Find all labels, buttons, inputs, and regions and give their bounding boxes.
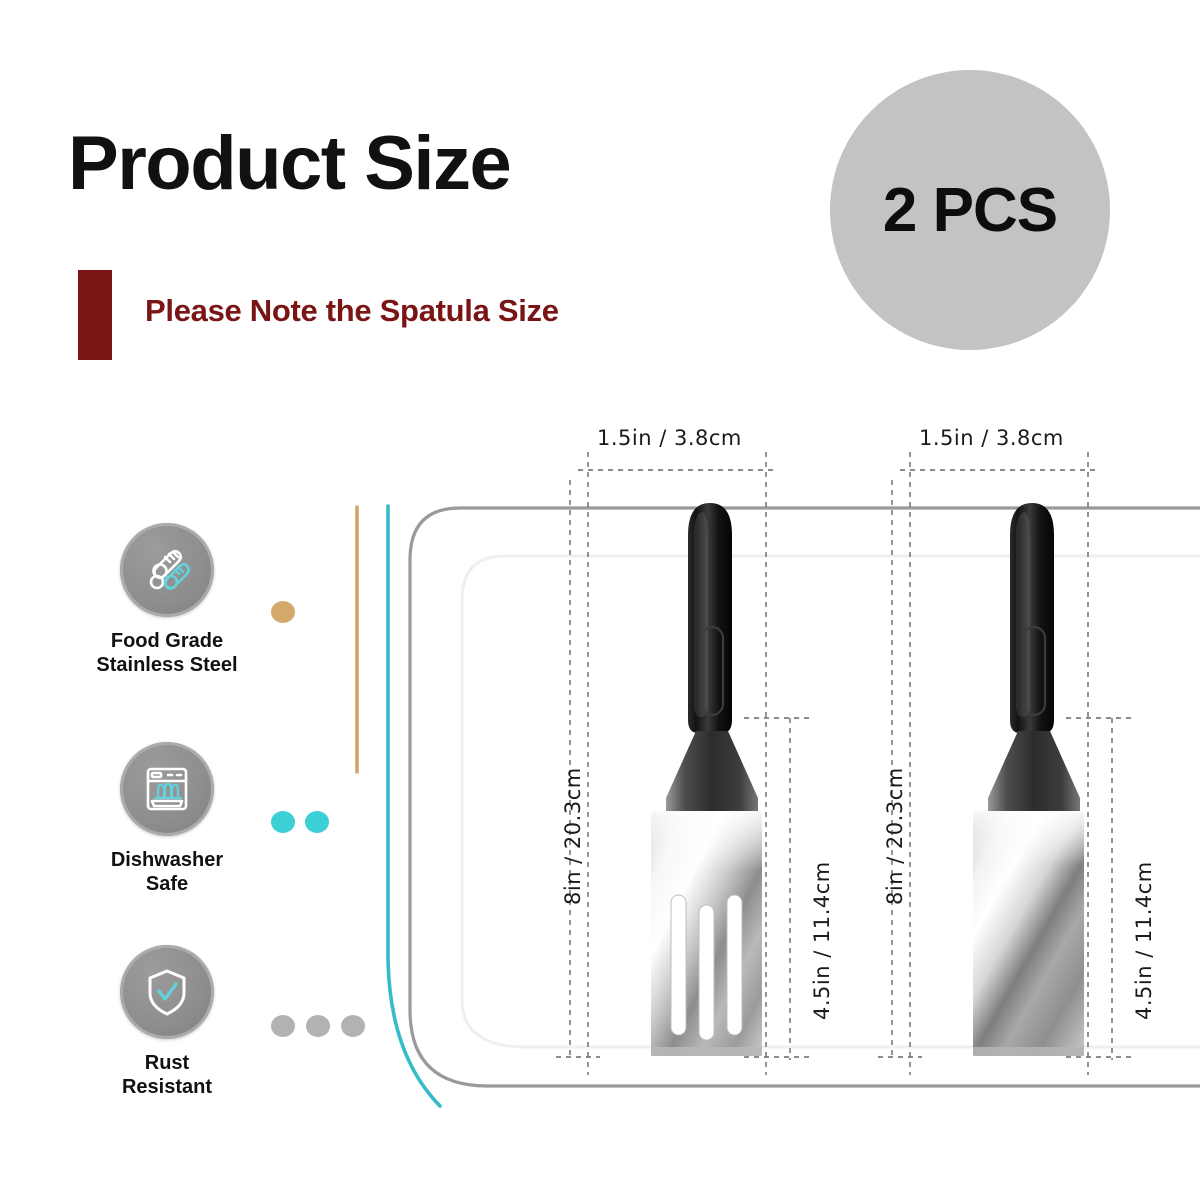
spatula-neck (666, 731, 758, 813)
dim-label-width-2: 1.5in / 3.8cm (919, 426, 1064, 450)
feature-label: Food Grade Stainless Steel (52, 629, 282, 678)
slotted-spatula (630, 495, 810, 1065)
blade-slot (727, 895, 742, 1035)
blade-edge (651, 1047, 762, 1056)
decor-dot (305, 811, 329, 833)
accent-bar (78, 270, 112, 360)
decor-dot (271, 811, 295, 833)
cyan-accent-line (388, 506, 440, 1106)
dim-label-blade-2: 4.5in / 11.4cm (1132, 861, 1156, 1020)
steel-tubes-glyph (137, 540, 197, 600)
quantity-badge: 2 PCS (830, 70, 1110, 350)
dim-label-width-1: 1.5in / 3.8cm (597, 426, 742, 450)
feature-label: Rust Resistant (52, 1051, 282, 1100)
decor-dot (306, 1015, 330, 1037)
feature-rust-resistant: Rust Resistant (52, 945, 282, 1100)
page-title: Product Size (68, 126, 510, 202)
blade-slot (699, 905, 714, 1040)
decor-dot (271, 1015, 295, 1037)
decor-dot (341, 1015, 365, 1037)
blade-slot (671, 895, 686, 1035)
dishwasher-glyph (137, 759, 197, 819)
spatula-neck (988, 731, 1080, 813)
steel-tubes-icon (120, 523, 214, 617)
dim-label-blade-1: 4.5in / 11.4cm (810, 861, 834, 1020)
feature-dishwasher-safe: Dishwasher Safe (52, 742, 282, 897)
shield-check-icon (120, 945, 214, 1039)
dim-label-total-2: 8in / 20.3cm (883, 767, 907, 905)
blade-edge (973, 1047, 1084, 1056)
blade-gloss (651, 811, 762, 871)
blade-gloss (973, 811, 1084, 866)
dim-label-total-1: 8in / 20.3cm (561, 767, 585, 905)
feature-food-grade: Food Grade Stainless Steel (52, 523, 282, 678)
solid-spatula (952, 495, 1132, 1065)
shield-check-glyph (137, 962, 197, 1022)
feature-label: Dishwasher Safe (52, 848, 282, 897)
quantity-badge-label: 2 PCS (883, 175, 1057, 246)
dishwasher-icon (120, 742, 214, 836)
decor-dot (271, 601, 295, 623)
subtitle-note: Please Note the Spatula Size (145, 293, 559, 329)
infographic-canvas: Product Size Please Note the Spatula Siz… (0, 0, 1200, 1200)
